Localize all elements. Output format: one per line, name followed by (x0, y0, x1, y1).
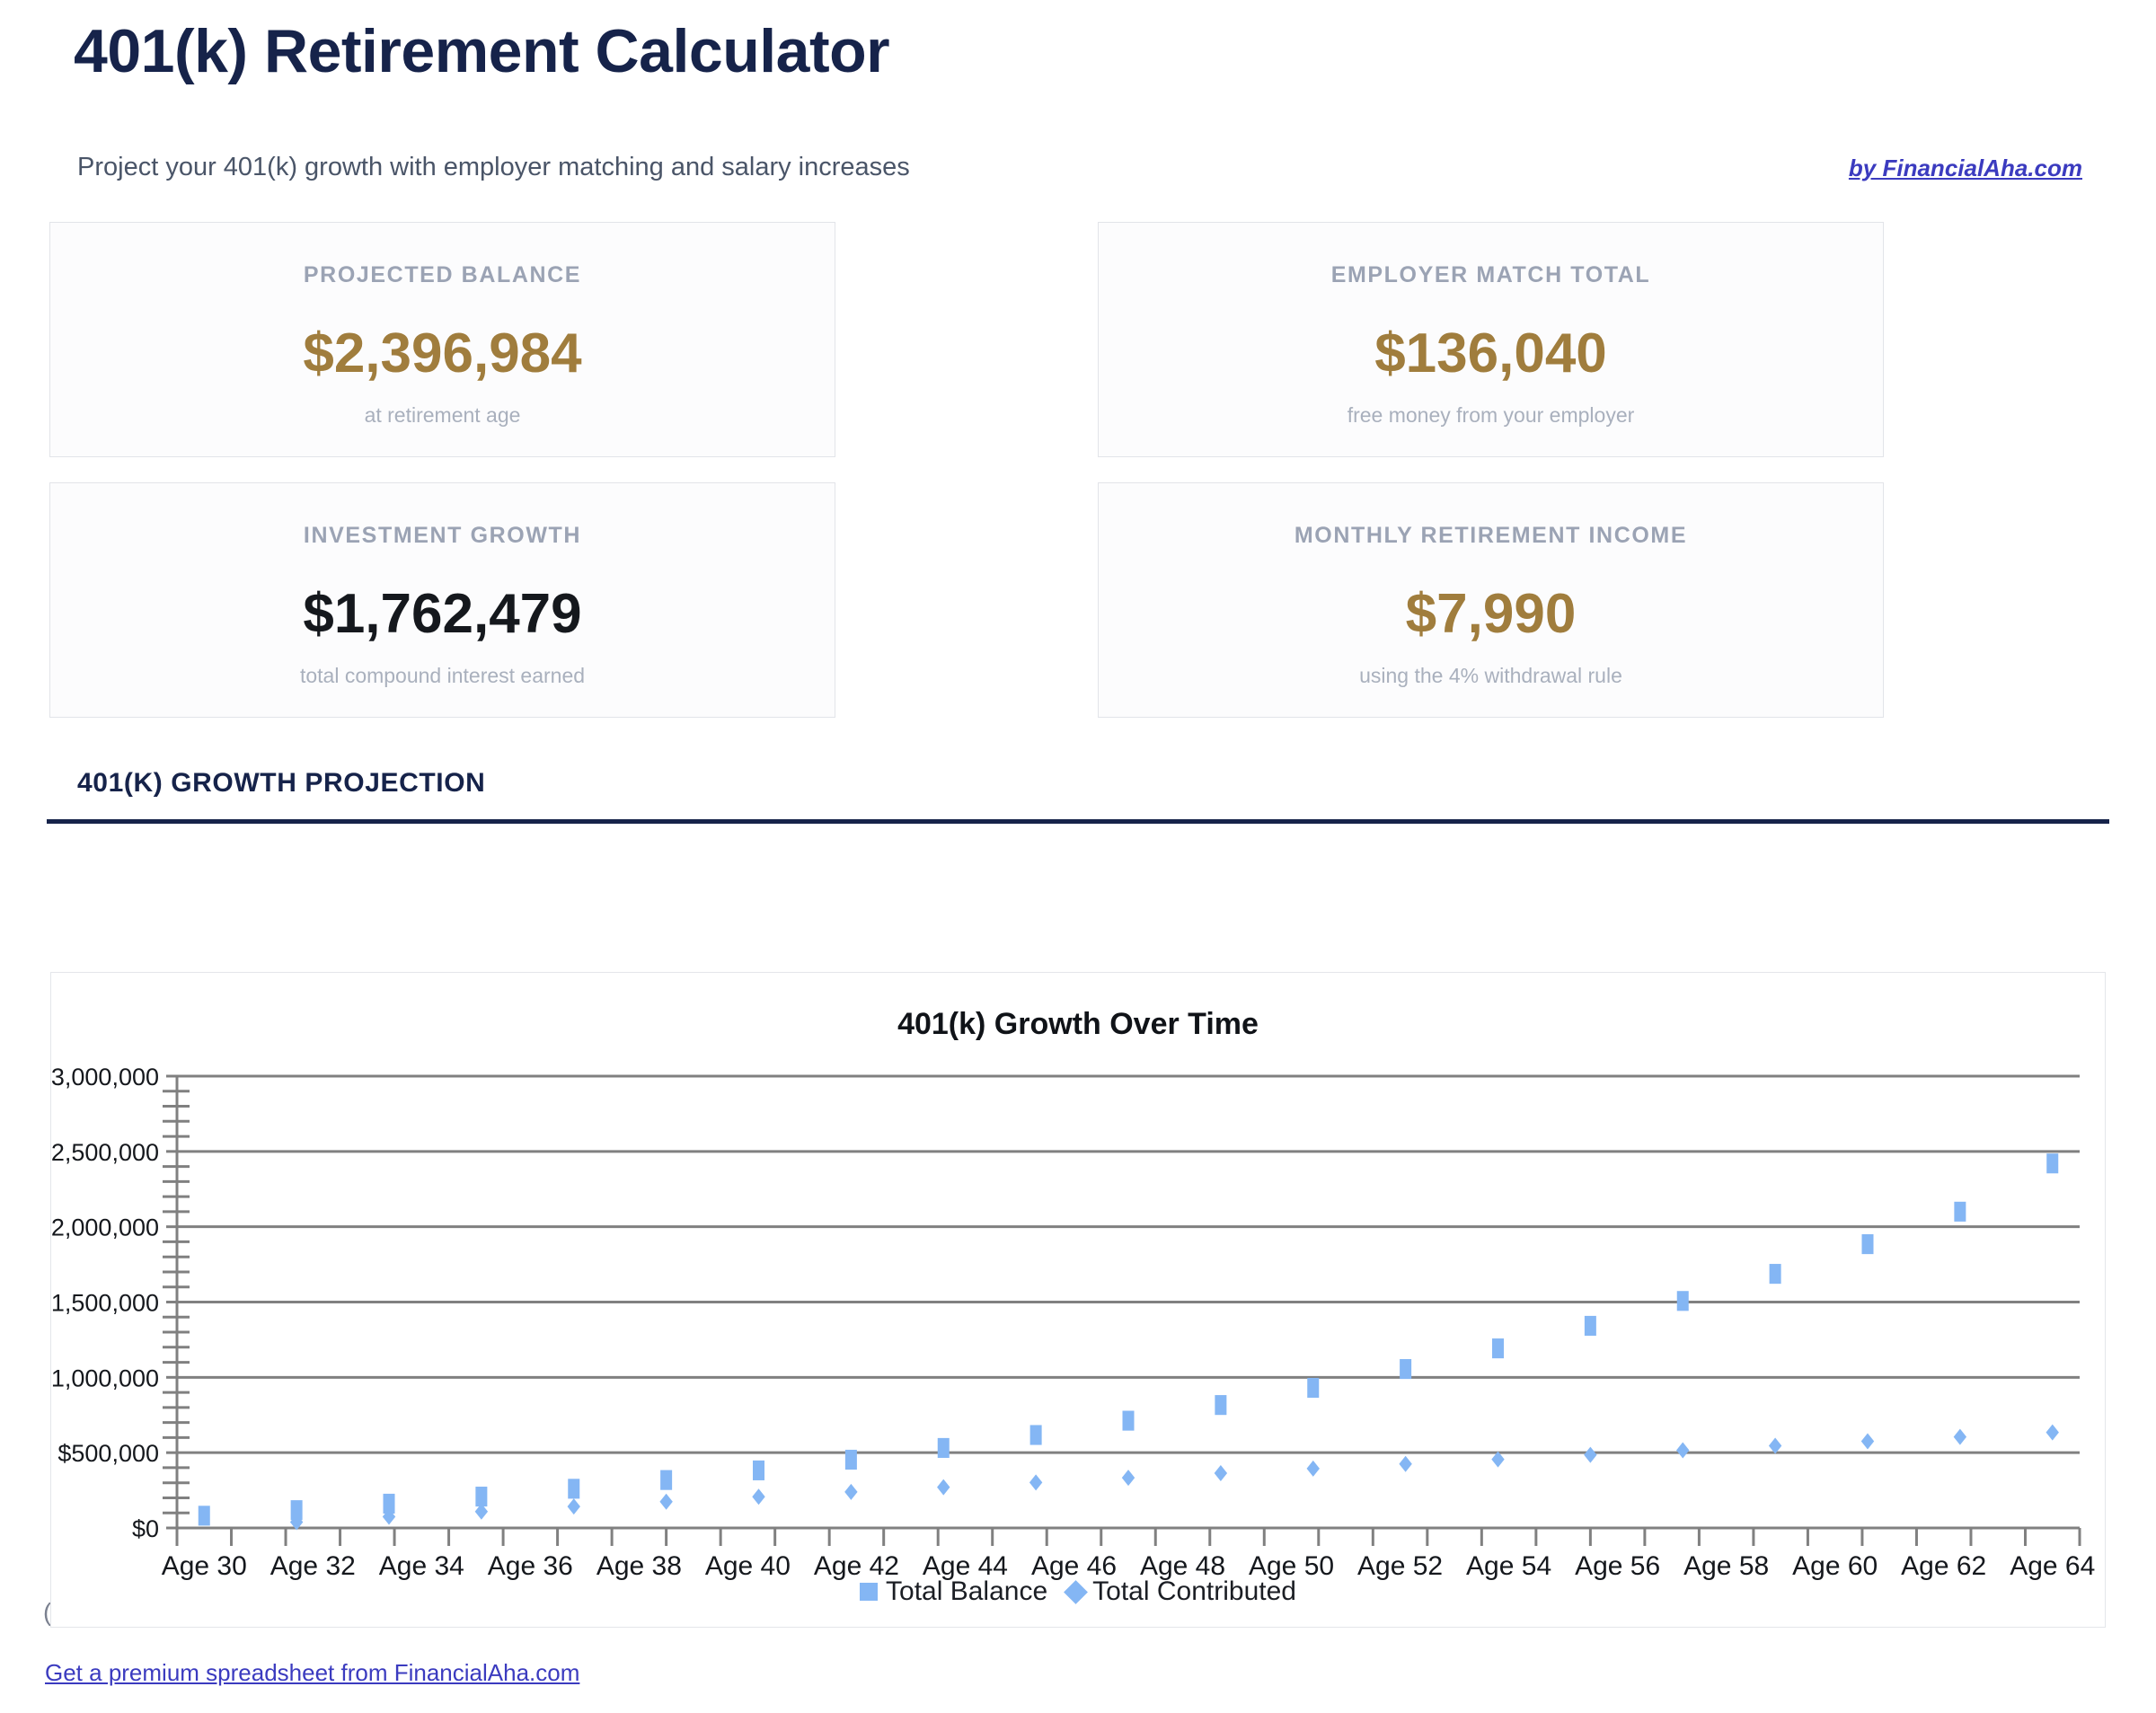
data-point-total-balance (1861, 1234, 1873, 1254)
growth-chart-plot: $0$500,000$1,000,000$1,500,000$2,000,000… (51, 973, 2107, 1629)
kpi-note: using the 4% withdrawal rule (1099, 664, 1883, 688)
y-tick-label: $1,000,000 (51, 1364, 159, 1391)
kpi-label: EMPLOYER MATCH TOTAL (1099, 262, 1883, 288)
data-point-total-balance (199, 1505, 210, 1525)
data-point-total-balance (938, 1438, 950, 1458)
data-point-total-balance (1954, 1202, 1966, 1222)
y-tick-label: $3,000,000 (51, 1064, 159, 1090)
kpi-note: total compound interest earned (50, 664, 835, 688)
data-point-total-contributed (1399, 1456, 1411, 1472)
data-point-total-contributed (1676, 1443, 1689, 1459)
data-point-total-balance (568, 1479, 579, 1498)
growth-chart-container: 401(k) Growth Over Time $0$500,000$1,000… (50, 972, 2106, 1628)
data-point-total-contributed (752, 1488, 764, 1505)
kpi-card-investment-growth: INVESTMENT GROWTH $1,762,479 total compo… (49, 482, 835, 718)
section-heading: 401(K) GROWTH PROJECTION (77, 768, 485, 799)
data-point-total-balance (1677, 1291, 1689, 1311)
data-point-total-balance (2046, 1153, 2058, 1173)
kpi-value: $1,762,479 (50, 582, 835, 646)
y-tick-label: $0 (132, 1515, 159, 1542)
data-point-total-contributed (844, 1484, 857, 1500)
data-point-total-balance (1215, 1395, 1226, 1415)
page-root: 401(k) Retirement Calculator Project you… (0, 0, 2156, 1713)
square-marker-icon (860, 1583, 878, 1601)
legend-item-total-contributed[interactable]: Total Contributed (1067, 1576, 1296, 1607)
kpi-label: PROJECTED BALANCE (50, 262, 835, 288)
kpi-card-monthly-retirement-income: MONTHLY RETIREMENT INCOME $7,990 using t… (1098, 482, 1884, 718)
data-point-total-contributed (1215, 1465, 1227, 1481)
data-point-total-contributed (1122, 1470, 1135, 1486)
premium-spreadsheet-link[interactable]: Get a premium spreadsheet from Financial… (45, 1659, 579, 1687)
kpi-value: $136,040 (1099, 322, 1883, 385)
kpi-label: INVESTMENT GROWTH (50, 523, 835, 549)
data-point-total-contributed (659, 1494, 672, 1510)
data-point-total-contributed (1584, 1447, 1596, 1463)
kpi-value: $2,396,984 (50, 322, 835, 385)
y-tick-label: $2,000,000 (51, 1214, 159, 1241)
data-point-total-contributed (1861, 1434, 1874, 1450)
data-point-total-balance (753, 1461, 764, 1480)
page-subtitle: Project your 401(k) growth with employer… (77, 153, 910, 182)
diamond-marker-icon (1064, 1580, 1088, 1604)
legend-item-total-balance[interactable]: Total Balance (860, 1576, 1047, 1607)
y-tick-label: $1,500,000 (51, 1290, 159, 1317)
y-tick-label: $2,500,000 (51, 1139, 159, 1166)
data-point-total-balance (1585, 1316, 1596, 1336)
legend-label: Total Contributed (1092, 1576, 1296, 1607)
data-point-total-balance (1307, 1378, 1319, 1398)
data-point-total-balance (1123, 1411, 1135, 1431)
kpi-card-projected-balance: PROJECTED BALANCE $2,396,984 at retireme… (49, 222, 835, 457)
legend-label: Total Balance (886, 1576, 1047, 1607)
data-point-total-balance (1030, 1425, 1042, 1444)
chart-legend: Total Balance Total Contributed (51, 1576, 2105, 1607)
kpi-label: MONTHLY RETIREMENT INCOME (1099, 523, 1883, 549)
data-point-total-balance (660, 1470, 672, 1490)
data-point-total-contributed (1954, 1429, 1966, 1445)
byline-link[interactable]: by FinancialAha.com (1849, 155, 2082, 182)
data-point-total-contributed (937, 1479, 950, 1496)
data-point-total-contributed (2046, 1425, 2059, 1441)
data-point-total-contributed (568, 1498, 580, 1514)
kpi-value: $7,990 (1099, 582, 1883, 646)
y-tick-label: $500,000 (57, 1440, 159, 1467)
data-point-total-balance (1770, 1264, 1781, 1284)
data-point-total-contributed (1029, 1474, 1042, 1490)
data-point-total-balance (845, 1450, 857, 1470)
kpi-note: at retirement age (50, 403, 835, 428)
kpi-note: free money from your employer (1099, 403, 1883, 428)
data-point-total-balance (1492, 1338, 1504, 1358)
section-divider (47, 819, 2109, 824)
data-point-total-contributed (1307, 1461, 1320, 1477)
page-title: 401(k) Retirement Calculator (74, 20, 889, 84)
kpi-card-employer-match-total: EMPLOYER MATCH TOTAL $136,040 free money… (1098, 222, 1884, 457)
data-point-total-balance (1400, 1359, 1411, 1379)
